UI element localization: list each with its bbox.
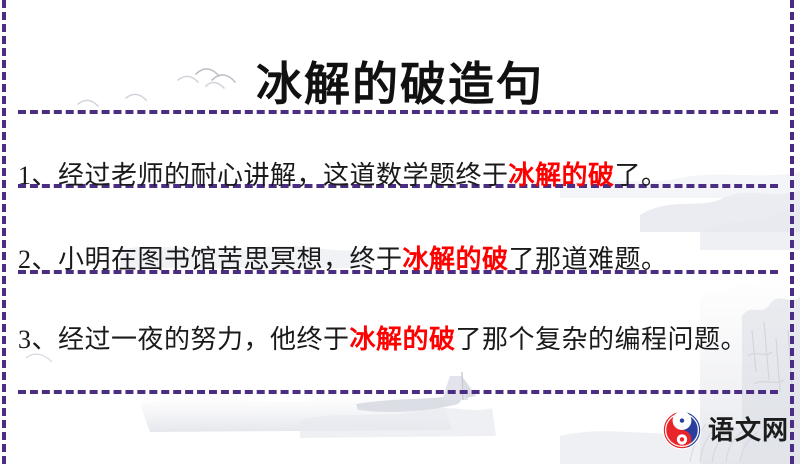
sentence-index: 3、 xyxy=(18,325,58,354)
list-item: 1、经过老师的耐心讲解，这道数学题终于冰解的破了。 xyxy=(18,154,762,198)
page-title: 冰解的破造句 xyxy=(0,55,800,115)
keyword-highlight: 冰解的破 xyxy=(509,161,615,190)
site-logo[interactable]: 语文网 xyxy=(662,410,789,450)
taiji-yinyang-icon xyxy=(662,410,702,450)
divider-4 xyxy=(18,390,778,394)
sentence-text-before: 小明在图书馆苦思冥想，终于 xyxy=(58,245,403,274)
sentence-text-before: 经过一夜的努力，他终于 xyxy=(58,325,350,354)
sentence-worksheet-page: 冰解的破造句 1、经过老师的耐心讲解，这道数学题终于冰解的破了。 2、小明在图书… xyxy=(0,0,800,464)
sentence-index: 1、 xyxy=(18,161,58,190)
list-item: 3、经过一夜的努力，他终于冰解的破了那个复杂的编程问题。 xyxy=(18,318,762,362)
sentence-text-before: 经过老师的耐心讲解，这道数学题终于 xyxy=(58,161,509,190)
sentence-text-after: 了那道难题。 xyxy=(509,245,668,274)
keyword-highlight: 冰解的破 xyxy=(403,245,509,274)
sentence-text-after: 了。 xyxy=(615,161,668,190)
sentence-text-after: 了那个复杂的编程问题。 xyxy=(456,325,748,354)
site-logo-text: 语文网 xyxy=(708,417,789,443)
keyword-highlight: 冰解的破 xyxy=(350,325,456,354)
sentence-index: 2、 xyxy=(18,245,58,274)
list-item: 2、小明在图书馆苦思冥想，终于冰解的破了那道难题。 xyxy=(18,238,762,282)
